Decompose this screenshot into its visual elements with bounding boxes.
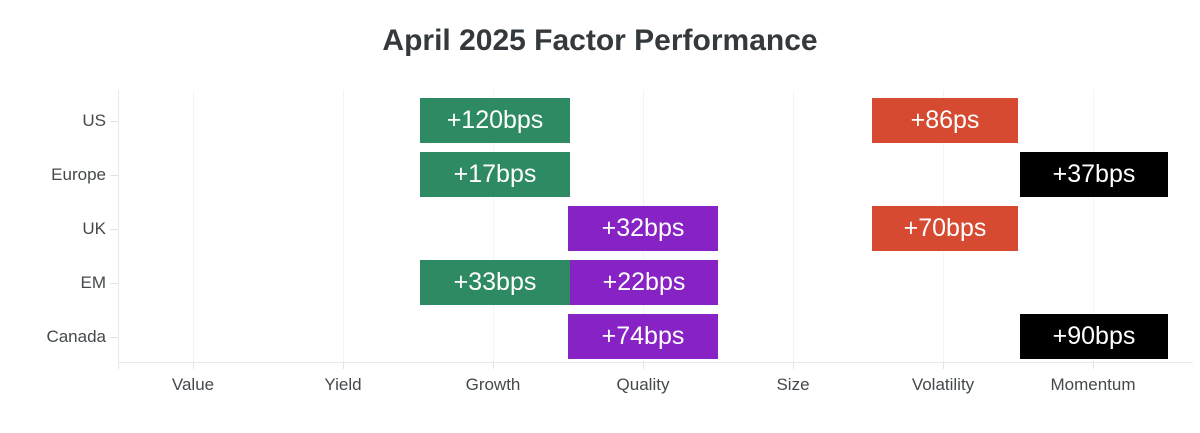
y-axis-tick [110, 229, 118, 230]
bar-value-label: +22bps [603, 270, 686, 295]
bar-value-label: +90bps [1053, 324, 1136, 349]
x-axis-label-size: Size [708, 375, 878, 395]
y-axis-label-us: US [6, 111, 106, 131]
gridline [193, 90, 194, 362]
bar-value-label: +33bps [454, 270, 537, 295]
bar-us-growth[interactable]: +120bps [420, 98, 570, 143]
y-axis-tick [110, 175, 118, 176]
x-axis-tick [118, 362, 119, 369]
x-axis-tick [1093, 362, 1094, 369]
y-axis-line [118, 90, 119, 362]
x-axis-tick [193, 362, 194, 369]
chart-title: April 2025 Factor Performance [0, 24, 1200, 58]
bar-value-label: +70bps [904, 216, 987, 241]
x-axis-tick [793, 362, 794, 369]
bar-value-label: +17bps [454, 162, 537, 187]
y-axis-label-canada: Canada [6, 327, 106, 347]
x-axis-label-yield: Yield [258, 375, 428, 395]
x-axis-label-momentum: Momentum [1008, 375, 1178, 395]
bar-value-label: +120bps [447, 108, 544, 133]
y-axis-tick [110, 283, 118, 284]
y-axis-tick [110, 337, 118, 338]
x-axis-tick [943, 362, 944, 369]
bar-europe-momentum[interactable]: +37bps [1020, 152, 1168, 197]
bar-value-label: +74bps [602, 324, 685, 349]
x-axis-label-volatility: Volatility [858, 375, 1028, 395]
bar-value-label: +32bps [602, 216, 685, 241]
bar-value-label: +37bps [1053, 162, 1136, 187]
bar-uk-volatility[interactable]: +70bps [872, 206, 1018, 251]
y-axis-label-em: EM [6, 273, 106, 293]
y-axis-label-europe: Europe [6, 165, 106, 185]
gridline [793, 90, 794, 362]
bar-em-growth[interactable]: +33bps [420, 260, 570, 305]
x-axis-tick [643, 362, 644, 369]
y-axis-label-uk: UK [6, 219, 106, 239]
x-axis-tick [493, 362, 494, 369]
bar-uk-quality[interactable]: +32bps [568, 206, 718, 251]
factor-performance-chart: April 2025 Factor Performance US Europe … [0, 0, 1200, 433]
y-axis-tick [110, 121, 118, 122]
x-axis-tick [343, 362, 344, 369]
bar-value-label: +86ps [911, 108, 980, 133]
bar-us-volatility[interactable]: +86ps [872, 98, 1018, 143]
x-axis-label-growth: Growth [408, 375, 578, 395]
bar-canada-quality[interactable]: +74bps [568, 314, 718, 359]
x-axis-line [118, 362, 1193, 363]
x-axis-label-value: Value [108, 375, 278, 395]
gridline [343, 90, 344, 362]
bar-canada-momentum[interactable]: +90bps [1020, 314, 1168, 359]
x-axis-label-quality: Quality [558, 375, 728, 395]
bar-em-quality[interactable]: +22bps [570, 260, 718, 305]
bar-europe-growth[interactable]: +17bps [420, 152, 570, 197]
